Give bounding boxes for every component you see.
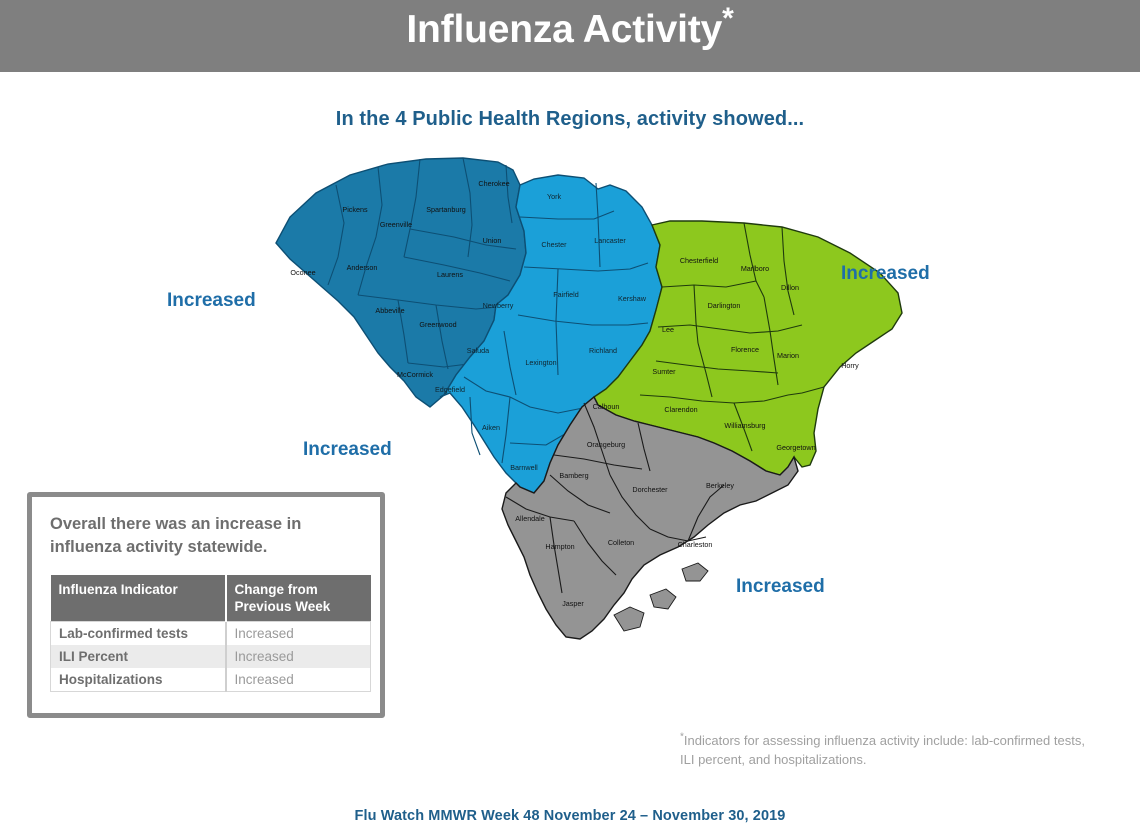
table-header: Influenza Indicator Change from Previous… [51, 575, 371, 622]
table-row: Lab-confirmed testsIncreased [51, 622, 371, 646]
summary-box: Overall there was an increase in influen… [27, 492, 385, 718]
column-header-indicator: Influenza Indicator [51, 575, 226, 622]
table-header-row: Influenza Indicator Change from Previous… [51, 575, 371, 622]
region-status-pee-dee: Increased [841, 263, 930, 285]
report-caption: Flu Watch MMWR Week 48 November 24 – Nov… [0, 808, 1140, 824]
indicator-name: Lab-confirmed tests [51, 622, 226, 646]
page-title: Influenza Activity* [0, 4, 1140, 56]
page-title-asterisk: * [722, 2, 733, 35]
indicator-name: ILI Percent [51, 645, 226, 668]
header-band: Influenza Activity* [0, 0, 1140, 72]
indicator-change: Increased [226, 668, 371, 692]
indicator-name: Hospitalizations [51, 668, 226, 692]
footnote-text: Indicators for assessing influenza activ… [680, 733, 1085, 767]
column-header-change-line1: Change from [235, 582, 318, 597]
indicator-change: Increased [226, 645, 371, 668]
region-status-upstate: Increased [167, 290, 256, 312]
column-header-change: Change from Previous Week [226, 575, 371, 622]
table-row: HospitalizationsIncreased [51, 668, 371, 692]
table-row: ILI PercentIncreased [51, 645, 371, 668]
summary-statement: Overall there was an increase in influen… [50, 513, 350, 559]
influenza-indicator-table: Influenza Indicator Change from Previous… [50, 575, 371, 692]
subtitle: In the 4 Public Health Regions, activity… [0, 108, 1140, 131]
page-title-text: Influenza Activity [406, 8, 722, 51]
indicator-change: Increased [226, 622, 371, 646]
footnote: *Indicators for assessing influenza acti… [680, 731, 1090, 769]
table-body: Lab-confirmed testsIncreasedILI PercentI… [51, 622, 371, 692]
region-status-midlands: Increased [303, 439, 392, 461]
region-status-lowcountry: Increased [736, 576, 825, 598]
column-header-change-line2: Previous Week [235, 599, 331, 614]
